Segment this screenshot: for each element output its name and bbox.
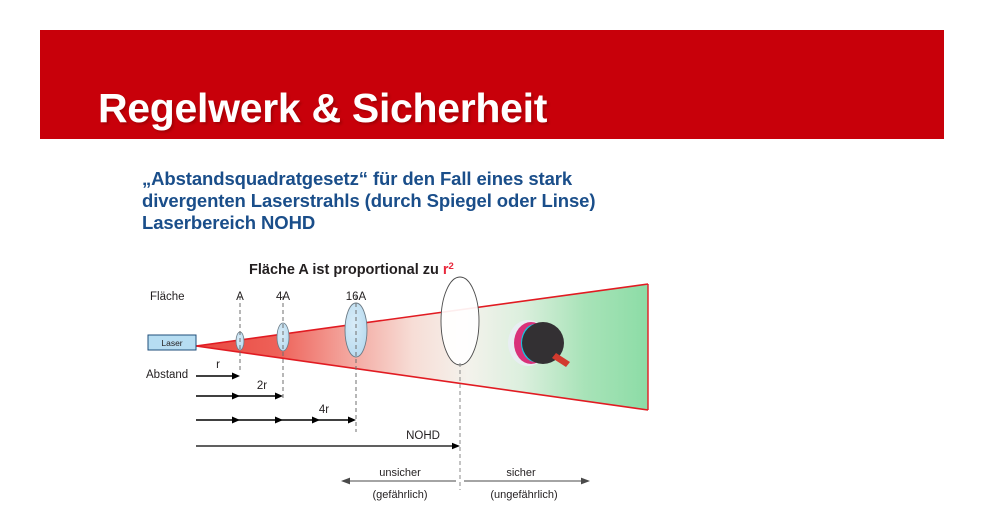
zone-sublabel-unsafe: (gefährlich) xyxy=(372,489,427,501)
page-title: Regelwerk & Sicherheit xyxy=(98,85,547,132)
subtitle-block: „Abstandsquadratgesetz“ für den Fall ein… xyxy=(142,168,822,234)
area-label-16a: 16A xyxy=(346,291,367,303)
distance-label-r: r xyxy=(216,359,220,371)
arrowhead-4r-mid2 xyxy=(275,417,283,424)
diagram-heading-accent-exponent: 2 xyxy=(449,261,454,272)
area-label-4a: 4A xyxy=(276,291,290,303)
subtitle-line-1: „Abstandsquadratgesetz“ für den Fall ein… xyxy=(142,168,822,190)
row-label-area: Fläche xyxy=(150,291,185,303)
arrowhead-nohd-end xyxy=(452,443,460,449)
arrowhead-unsafe-left xyxy=(341,478,350,485)
distance-label-2r: 2r xyxy=(257,380,267,392)
arrowhead-4r-mid3 xyxy=(312,417,320,424)
row-label-distance: Abstand xyxy=(146,369,188,381)
subtitle-line-2: divergenten Laserstrahls (durch Spiegel … xyxy=(142,190,822,212)
zone-label-unsafe: unsicher xyxy=(379,467,421,479)
arrowhead-4r-mid1 xyxy=(232,417,240,424)
distance-label-4r: 4r xyxy=(319,404,329,416)
title-banner: Regelwerk & Sicherheit xyxy=(40,30,944,139)
arrowhead-2r-end xyxy=(275,393,283,400)
diagram-heading: Fläche A ist proportional zu r2 xyxy=(249,261,454,278)
arrowhead-r-end xyxy=(232,373,240,380)
distance-label-nohd: NOHD xyxy=(406,430,440,442)
area-label-a: A xyxy=(236,291,244,303)
cross-section-nohd xyxy=(441,277,479,365)
arrowhead-safe-right xyxy=(581,478,590,485)
arrowhead-2r-mid xyxy=(232,393,240,400)
laser-source-label: Laser xyxy=(161,338,182,348)
diagram-heading-main: Fläche A ist proportional zu xyxy=(249,262,443,278)
arrowhead-4r-end xyxy=(348,417,356,424)
subtitle-line-3: Laserbereich NOHD xyxy=(142,212,822,234)
laser-source-box[interactable]: Laser xyxy=(148,335,196,350)
zone-sublabel-safe: (ungefährlich) xyxy=(490,489,557,501)
zone-label-safe: sicher xyxy=(506,467,536,479)
laser-nohd-diagram: Fläche A ist proportional zu r2 xyxy=(0,250,989,526)
slide-canvas: Regelwerk & Sicherheit „Abstandsquadratg… xyxy=(0,0,989,526)
